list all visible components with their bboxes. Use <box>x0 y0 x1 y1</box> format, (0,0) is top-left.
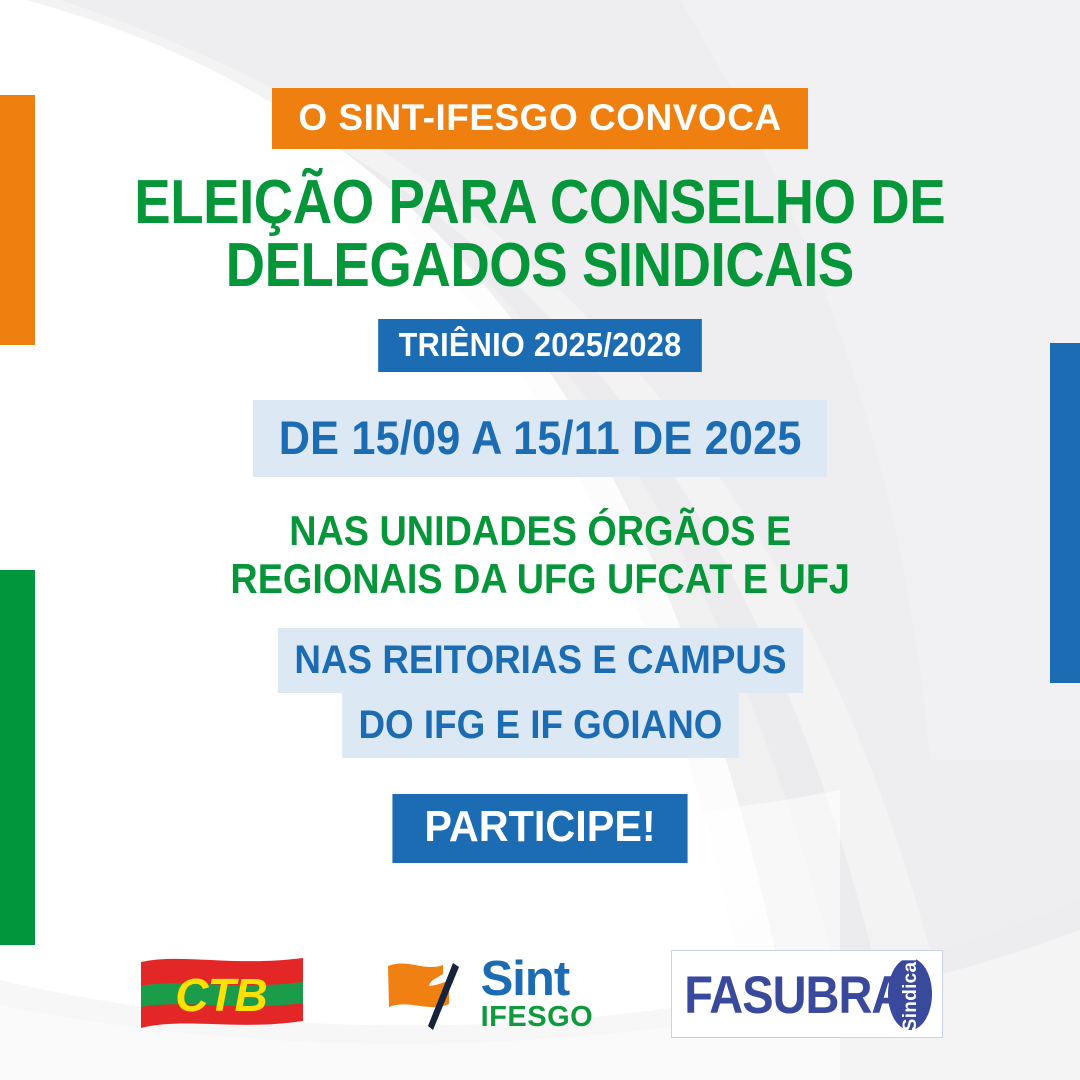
ctb-logo: CTB <box>137 953 307 1035</box>
fasubra-sindical-text: Sindical <box>901 956 920 1031</box>
headline-line-1: ELEIÇÃO PARA CONSELHO DE <box>135 168 946 237</box>
logo-row: CTB Sint IFESGO FASUBRA Sindical <box>0 950 1080 1038</box>
svg-text:CTB: CTB <box>175 969 267 1021</box>
sint-word: Sint <box>481 957 594 1002</box>
campus-line-1: NAS REITORIAS E CAMPUS <box>277 628 802 693</box>
campus-text: NAS REITORIAS E CAMPUS DO IFG E IF GOIAN… <box>277 628 802 758</box>
units-text: NAS UNIDADES ÓRGÃOS E REGIONAIS DA UFG U… <box>230 507 850 601</box>
fasubra-logo: FASUBRA Sindical <box>671 950 943 1038</box>
participate-cta[interactable]: PARTICIPE! <box>392 794 687 863</box>
poster-canvas: O SINT-IFESGO CONVOCA ELEIÇÃO PARA CONSE… <box>0 0 1080 1080</box>
sint-wordmark: Sint IFESGO <box>481 957 594 1031</box>
sint-flag-icon <box>385 956 473 1032</box>
page-title: ELEIÇÃO PARA CONSELHO DE DELEGADOS SINDI… <box>135 171 946 297</box>
poster-content: O SINT-IFESGO CONVOCA ELEIÇÃO PARA CONSE… <box>0 0 1080 1080</box>
ifesgo-word: IFESGO <box>481 1004 594 1031</box>
campus-line-2: DO IFG E IF GOIANO <box>341 693 738 758</box>
date-range-highlight: DE 15/09 A 15/11 DE 2025 <box>253 400 827 477</box>
fasubra-wordmark: FASUBRA <box>684 968 904 1021</box>
trienio-badge: TRIÊNIO 2025/2028 <box>378 319 702 372</box>
units-line-2: REGIONAIS DA UFG UFCAT E UFJ <box>230 555 850 602</box>
fasubra-sindical-badge: Sindical <box>888 958 932 1030</box>
kicker-banner: O SINT-IFESGO CONVOCA <box>272 88 807 149</box>
units-line-1: NAS UNIDADES ÓRGÃOS E <box>230 507 850 554</box>
sint-ifesgo-logo: Sint IFESGO <box>385 956 594 1032</box>
headline-line-2: DELEGADOS SINDICAIS <box>135 234 946 297</box>
